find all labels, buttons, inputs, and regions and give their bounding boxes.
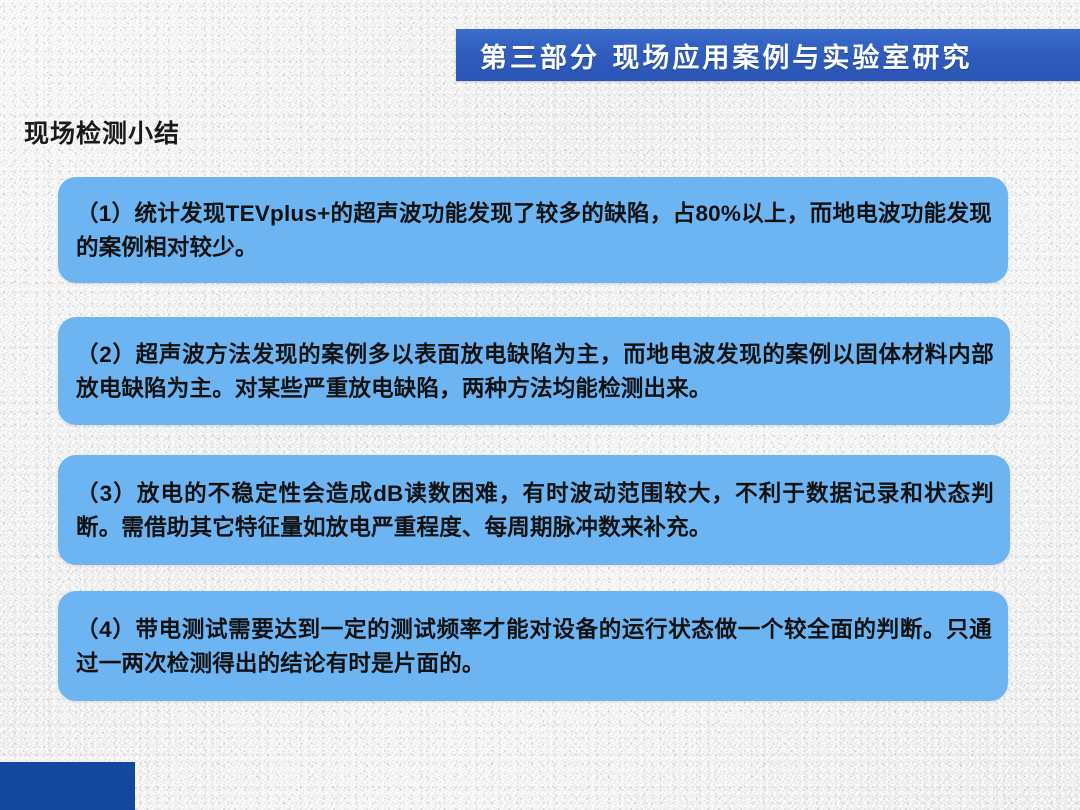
bullet-text-2: （2）超声波方法发现的案例多以表面放电缺陷为主，而地电波发现的案例以固体材料内部…	[76, 338, 994, 406]
bullet-box-4: （4）带电测试需要达到一定的测试频率才能对设备的运行状态做一个较全面的判断。只通…	[58, 591, 1008, 701]
bullet-box-1: （1）统计发现TEVplus+的超声波功能发现了较多的缺陷，占80%以上，而地电…	[58, 177, 1008, 283]
footer-accent-bar	[0, 762, 135, 810]
page-title: 现场检测小结	[24, 114, 180, 150]
bullet-box-3: （3）放电的不稳定性会造成dB读数困难，有时波动范围较大，不利于数据记录和状态判…	[58, 455, 1010, 565]
header-banner-title: 第三部分 现场应用案例与实验室研究	[456, 36, 972, 75]
bullet-box-2: （2）超声波方法发现的案例多以表面放电缺陷为主，而地电波发现的案例以固体材料内部…	[58, 317, 1010, 425]
bullet-text-3: （3）放电的不稳定性会造成dB读数困难，有时波动范围较大，不利于数据记录和状态判…	[76, 477, 994, 545]
bullet-text-4: （4）带电测试需要达到一定的测试频率才能对设备的运行状态做一个较全面的判断。只通…	[76, 613, 992, 681]
header-banner: 第三部分 现场应用案例与实验室研究	[456, 29, 1080, 81]
bullet-text-1: （1）统计发现TEVplus+的超声波功能发现了较多的缺陷，占80%以上，而地电…	[76, 197, 992, 265]
slide-canvas: 第三部分 现场应用案例与实验室研究 现场检测小结 （1）统计发现TEVplus+…	[0, 0, 1080, 810]
